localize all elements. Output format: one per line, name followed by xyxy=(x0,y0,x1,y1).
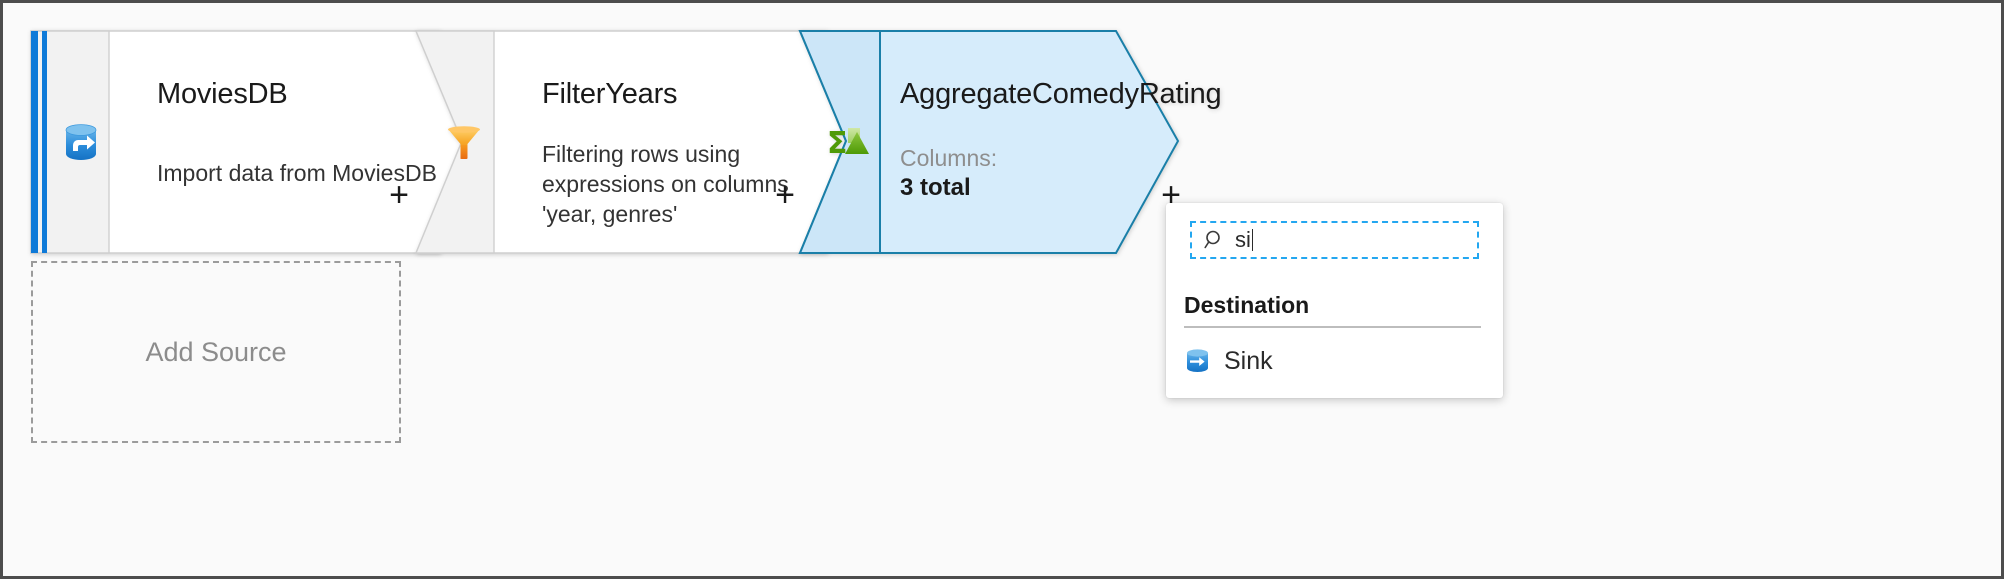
add-step-dropdown-panel: si Destination xyxy=(1166,203,1503,398)
search-icon xyxy=(1203,228,1227,252)
node-title: AggregateComedyRating xyxy=(900,78,1221,111)
add-step-button-after-filteryears[interactable]: + xyxy=(770,181,800,211)
node-selection-stripes xyxy=(31,31,47,253)
data-flow-designer-screenshot: MoviesDB Import data from MoviesDB + xyxy=(0,0,2004,579)
flow-node-aggregatecomedyrating[interactable]: Σ AggregateComedyRating Columns: 3 total xyxy=(800,31,1178,253)
text-caret xyxy=(1252,229,1253,251)
node-title: MoviesDB xyxy=(157,78,288,111)
node-columns-label: Columns: xyxy=(900,143,997,173)
dropdown-item-sink[interactable]: Sink xyxy=(1184,341,1484,381)
dropdown-item-label: Sink xyxy=(1224,347,1273,376)
search-input-value: si xyxy=(1235,227,1251,253)
node-title: FilterYears xyxy=(542,78,677,111)
data-flow-canvas[interactable]: MoviesDB Import data from MoviesDB + xyxy=(3,3,2001,576)
sink-database-icon xyxy=(1184,348,1211,375)
node-body-aggregate: AggregateComedyRating Columns: 3 total xyxy=(880,31,1178,253)
dropdown-section-divider xyxy=(1184,326,1481,328)
dropdown-section-heading: Destination xyxy=(1184,292,1309,319)
add-step-button-after-moviesdb[interactable]: + xyxy=(384,181,414,211)
search-input[interactable]: si xyxy=(1190,221,1479,259)
node-columns-value: 3 total xyxy=(900,173,971,203)
add-source-placeholder[interactable]: Add Source xyxy=(31,261,401,443)
add-source-label: Add Source xyxy=(145,337,286,368)
